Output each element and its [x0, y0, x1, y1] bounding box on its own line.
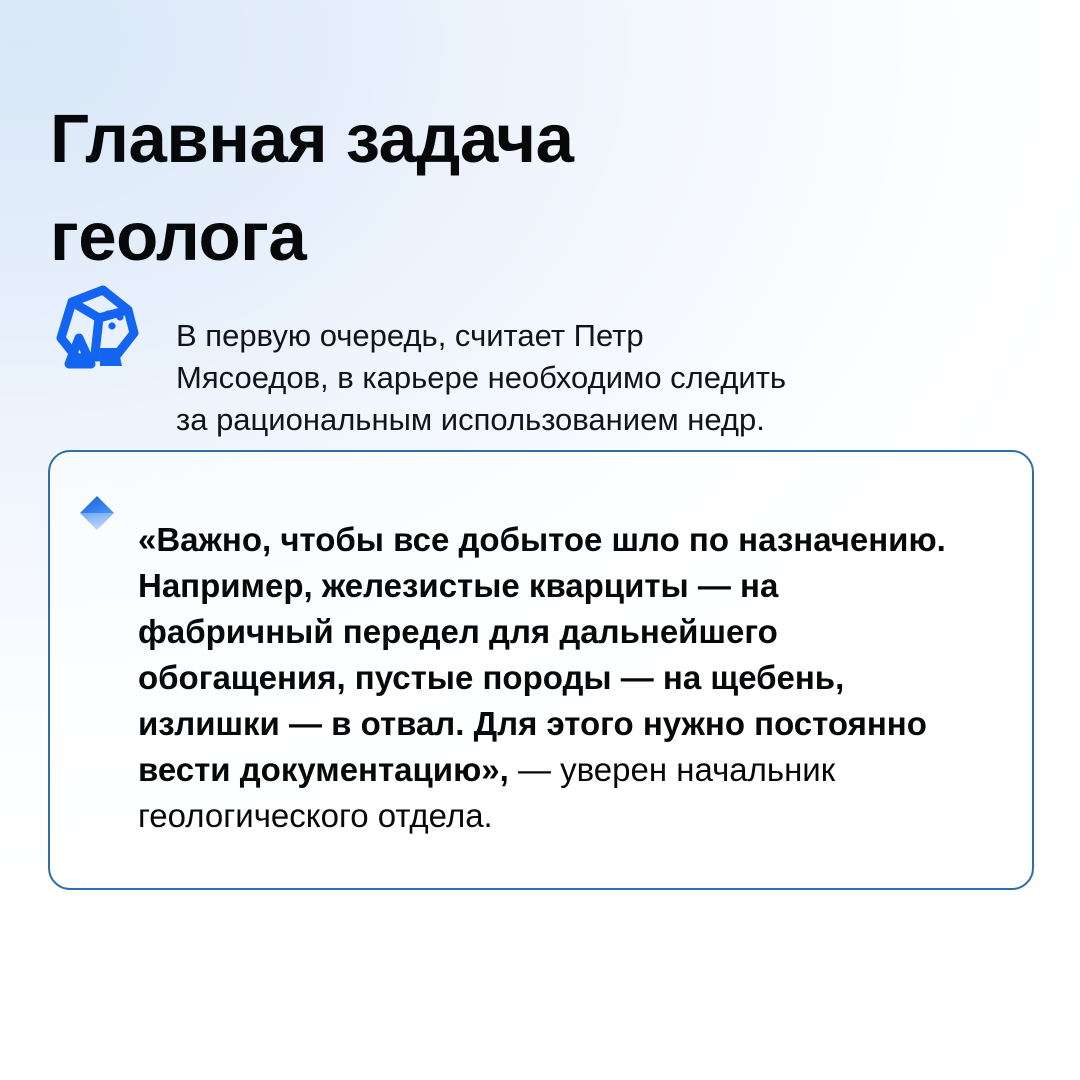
- quote-text: «Важно, чтобы все добытое шло по назначе…: [138, 517, 953, 839]
- page-title: Главная задача геолога: [50, 90, 870, 286]
- slide-root: Главная задача геолога В пер: [0, 0, 1080, 1080]
- intro-block: В первую очередь, считает Петр Мясоедов,…: [50, 280, 950, 472]
- quote-inner: «Важно, чтобы все добытое шло по назначе…: [78, 484, 998, 872]
- gem-diamond-icon: [78, 494, 116, 532]
- quote-bold-text: «Важно, чтобы все добытое шло по назначе…: [138, 521, 946, 788]
- rock-ore-icon: [50, 284, 148, 370]
- quote-card: «Важно, чтобы все добытое шло по назначе…: [48, 450, 1034, 890]
- intro-paragraph: В первую очередь, считает Петр Мясоедов,…: [176, 311, 786, 441]
